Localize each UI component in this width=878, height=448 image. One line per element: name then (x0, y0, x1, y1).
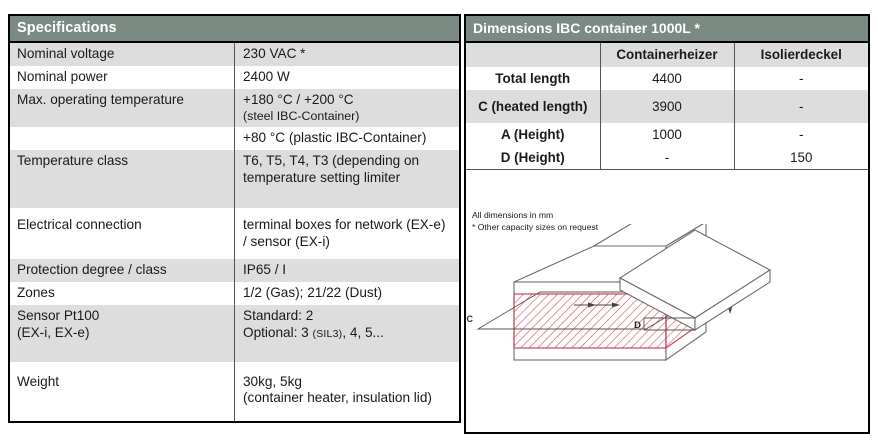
table-row: Electrical connection terminal boxes for… (10, 208, 459, 259)
spec-label-temperature-class: Temperature class (10, 150, 235, 209)
table-row: A (Height) 1000 - (466, 123, 868, 146)
dim-value-heated-length-containerheizer: 3900 (600, 90, 734, 123)
table-row: C (heated length) 3900 - (466, 90, 868, 123)
specifications-header: Specifications (10, 16, 459, 42)
table-row: Sensor Pt100 (EX-i, EX-e) Standard: 2 Op… (10, 305, 459, 362)
spec-header-row: Specifications (10, 16, 459, 42)
dimensions-table: Dimensions IBC container 1000L * Contain… (464, 14, 870, 434)
dim-value-total-length-isolierdeckel: - (734, 67, 868, 90)
dim-value-d-height-containerheizer: - (600, 146, 734, 170)
table-row: Temperature class T6, T5, T4, T3 (depend… (10, 150, 459, 209)
table-row: +80 °C (plastic IBC-Container) (10, 127, 459, 150)
dim-value-heated-length-isolierdeckel: - (734, 90, 868, 123)
dim-value-a-height-isolierdeckel: - (734, 123, 868, 146)
spec-value-protection-degree: IP65 / I (235, 259, 460, 282)
spec-label-protection-degree: Protection degree / class (10, 259, 235, 282)
spec-label-line: (EX-i, EX-e) (17, 325, 227, 342)
dim-column-header-containerheizer: Containerheizer (600, 42, 734, 67)
spec-label-nominal-power: Nominal power (10, 66, 235, 89)
sensor-optional-sil-badge: (SIL3) (313, 328, 343, 340)
spec-value-nominal-power: 2400 W (235, 66, 460, 89)
table-row: Nominal power 2400 W (10, 66, 459, 89)
spec-value-max-operating-temperature: +180 °C / +200 °C (steel IBC-Container) (235, 89, 460, 127)
spec-value-line: (container heater, insulation lid) (243, 390, 452, 407)
table-row: Weight 30kg, 5kg (container heater, insu… (10, 362, 459, 422)
spec-value-line: Standard: 2 (243, 308, 452, 325)
specifications-table: Specifications Nominal voltage 230 VAC *… (8, 14, 461, 423)
table-row: Nominal voltage 230 VAC * (10, 42, 459, 66)
spec-value-line: terminal boxes for network (EX-e) (243, 217, 452, 234)
note-line: All dimensions in mm (472, 209, 598, 221)
table-row: Protection degree / class IP65 / I (10, 259, 459, 282)
dimension-figure: C A (466, 224, 868, 432)
spec-label-max-operating-temperature: Max. operating temperature (10, 89, 235, 127)
spec-value-weight: 30kg, 5kg (container heater, insulation … (235, 362, 460, 422)
dim-value-total-length-containerheizer: 4400 (600, 67, 734, 90)
spec-value-temperature-class: T6, T5, T4, T3 (depending on temperature… (235, 150, 460, 209)
dim-label-d-height: D (Height) (466, 146, 600, 170)
spec-value-line: / sensor (EX-i) (243, 234, 452, 251)
dim-column-header-row: Containerheizer Isolierdeckel (466, 42, 868, 67)
spec-value-line: 30kg, 5kg (243, 374, 452, 391)
spec-label-empty (10, 127, 235, 150)
sensor-optional-suffix: , 4, 5... (342, 325, 384, 340)
spec-sheet-root: Specifications Nominal voltage 230 VAC *… (0, 0, 878, 448)
spec-value-line: temperature setting limiter (243, 170, 452, 187)
table-row: D (Height) - 150 (466, 146, 868, 170)
label-d-height: D (634, 320, 641, 331)
spec-value-plastic-container-temperature: +80 °C (plastic IBC-Container) (235, 127, 460, 150)
spec-value-line: +180 °C / +200 °C (243, 92, 452, 109)
dim-value-a-height-containerheizer: 1000 (600, 123, 734, 146)
dim-header-row: Dimensions IBC container 1000L * (466, 16, 868, 42)
dim-label-a-height: A (Height) (466, 123, 600, 146)
table-row: Max. operating temperature +180 °C / +20… (10, 89, 459, 127)
spec-value-sensor-pt100: Standard: 2 Optional: 3 (SIL3), 4, 5... (235, 305, 460, 362)
spec-value-line: T6, T5, T4, T3 (depending on (243, 153, 452, 170)
spec-label-nominal-voltage: Nominal voltage (10, 42, 235, 66)
dim-label-total-length: Total length (466, 67, 600, 90)
sensor-optional-prefix: Optional: 3 (243, 325, 313, 340)
table-row: Total length 4400 - (466, 67, 868, 90)
spec-value-nominal-voltage: 230 VAC * (235, 42, 460, 66)
dim-value-d-height-isolierdeckel: 150 (734, 146, 868, 170)
spec-label-electrical-connection: Electrical connection (10, 208, 235, 259)
spec-value-line: Optional: 3 (SIL3), 4, 5... (243, 325, 452, 342)
spec-value-electrical-connection: terminal boxes for network (EX-e) / sens… (235, 208, 460, 259)
spec-label-line: Sensor Pt100 (17, 308, 227, 325)
spec-value-line: (steel IBC-Container) (243, 109, 452, 124)
spec-value-zones: 1/2 (Gas); 21/22 (Dust) (235, 282, 460, 305)
table-row: Zones 1/2 (Gas); 21/22 (Dust) (10, 282, 459, 305)
label-c-heated-length: C (467, 314, 474, 324)
spec-label-zones: Zones (10, 282, 235, 305)
dim-column-header-blank (466, 42, 600, 67)
dim-label-heated-length: C (heated length) (466, 90, 600, 123)
spec-label-weight: Weight (10, 362, 235, 422)
dim-column-header-isolierdeckel: Isolierdeckel (734, 42, 868, 67)
dimensions-header: Dimensions IBC container 1000L * (466, 16, 868, 42)
spec-label-sensor-pt100: Sensor Pt100 (EX-i, EX-e) (10, 305, 235, 362)
container-diagram-svg: C A (466, 224, 868, 432)
